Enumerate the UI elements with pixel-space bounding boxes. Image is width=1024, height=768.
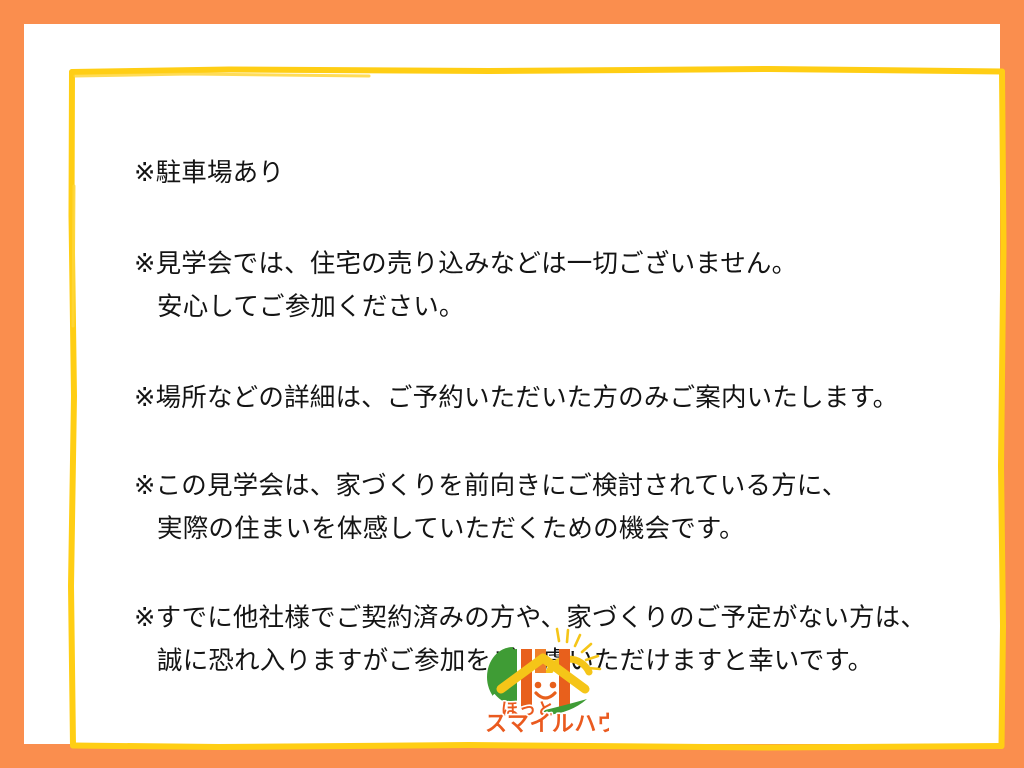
note-parking: ※駐車場あり xyxy=(134,152,964,195)
note-line: ※駐車場あり xyxy=(134,152,964,195)
spacer xyxy=(134,343,964,377)
note-location-details: ※場所などの詳細は、ご予約いただいた方のみご案内いたします。 xyxy=(134,377,964,420)
note-no-sales-pitch: ※見学会では、住宅の売り込みなどは一切ございません。 安心してご参加ください。 xyxy=(134,243,964,329)
note-line: ※場所などの詳細は、ご予約いただいた方のみご案内いたします。 xyxy=(134,377,964,420)
note-target-audience: ※この見学会は、家づくりを前向きにご検討されている方に、 実際の住まいを体感して… xyxy=(134,465,964,551)
note-line: ※見学会では、住宅の売り込みなどは一切ございません。 xyxy=(134,243,964,286)
hotto-smile-house-logo: ほっと スマイルハウス xyxy=(471,625,609,733)
note-line: ※この見学会は、家づくりを前向きにご検討されている方に、 xyxy=(134,465,964,508)
note-line: 実際の住まいを体感していただくための機会です。 xyxy=(134,508,964,551)
note-line: 安心してご参加ください。 xyxy=(134,286,964,329)
white-card: ※駐車場あり ※見学会では、住宅の売り込みなどは一切ございません。 安心してご参… xyxy=(24,24,1000,744)
smiley-eye-left xyxy=(535,682,542,689)
notes-list: ※駐車場あり ※見学会では、住宅の売り込みなどは一切ございません。 安心してご参… xyxy=(134,152,964,683)
spacer xyxy=(134,434,964,465)
smiley-eye-right xyxy=(550,682,557,689)
logo-text-smile: スマイルハウス xyxy=(485,712,609,733)
slide-canvas: ※駐車場あり ※見学会では、住宅の売り込みなどは一切ございません。 安心してご参… xyxy=(0,0,1024,768)
spacer xyxy=(134,209,964,243)
spacer xyxy=(134,565,964,597)
